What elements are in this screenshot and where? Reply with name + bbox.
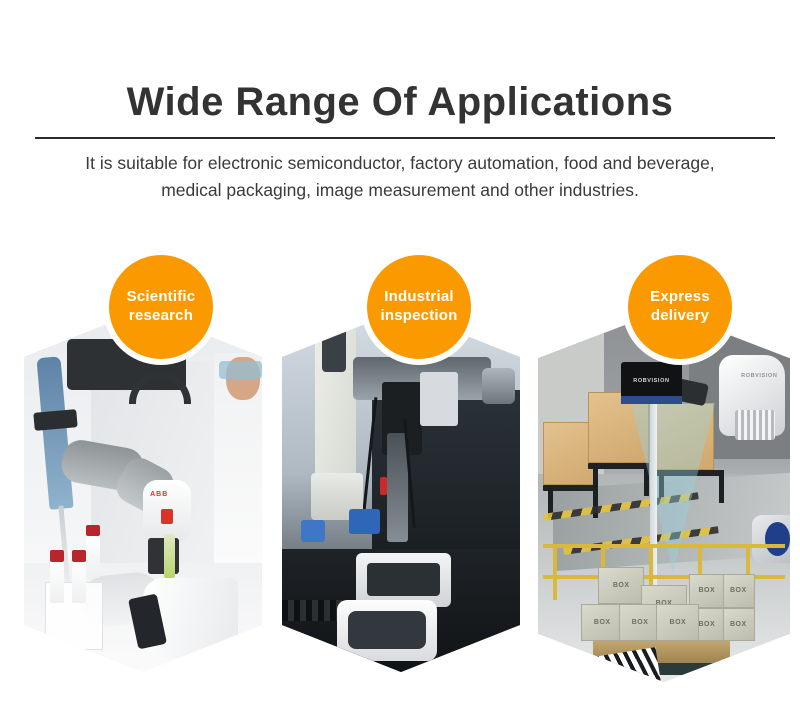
scientific-research-photo: ABB [24,310,262,672]
badge-label: Scientific research [127,288,196,326]
component-tray [337,600,437,662]
badge-label-line-2: delivery [651,307,709,324]
page-subtitle: It is suitable for electronic semiconduc… [55,150,745,204]
page-title: Wide Range Of Applications [0,0,800,122]
carton: BOX [722,574,755,607]
application-card-industrial-inspection[interactable]: Industrial inspection [282,255,520,680]
sample-vial [86,534,100,577]
rack-leg [593,463,598,496]
control-module [420,372,458,426]
component-tray [356,553,451,607]
carton: BOX [722,608,755,641]
safety-goggles-icon [219,361,262,379]
blue-fixture [301,520,325,542]
application-page: Wide Range Of Applications It is suitabl… [0,0,800,720]
fence-post [553,544,557,600]
pneumatic-cylinder [482,368,515,404]
sample-vial [72,560,86,603]
robot-cable-track [735,410,775,440]
carton: BOX [656,604,699,641]
title-divider [35,137,775,139]
badge-label: Industrial inspection [380,288,457,326]
actuator-cap [322,324,346,371]
green-sample-tube [164,534,175,577]
badge-label-line-1: Scientific [127,288,196,305]
application-card-scientific-research[interactable]: ABB Scientific research [24,255,262,680]
badge-label: Express delivery [650,288,710,326]
scanner-brand-label: ROBVISION [633,378,669,384]
robot-brand-label: ROBVISION [741,373,777,379]
badge-industrial-inspection[interactable]: Industrial inspection [367,255,471,359]
express-delivery-photo: ROBVISION ROBVISION [538,310,790,682]
badge-express-delivery[interactable]: Express delivery [628,255,732,359]
badge-label-line-2: inspection [380,307,457,324]
carton: BOX [619,604,662,641]
carton: BOX [689,574,724,607]
carton: BOX [581,604,624,641]
badge-label-line-1: Industrial [384,288,454,305]
badge-label-line-2: research [129,307,193,324]
badge-label-line-1: Express [650,288,710,305]
application-panels: ABB Scientific research [0,255,800,680]
scanner-lens-bar [621,396,681,404]
industrial-inspection-photo [282,310,520,672]
robot-arm-brand-mark: ABB [150,491,168,498]
sample-vial [50,560,64,603]
rack-leg [719,470,724,503]
badge-scientific-research[interactable]: Scientific research [109,255,213,359]
pipette-clamp [33,410,77,432]
application-card-express-delivery[interactable]: ROBVISION ROBVISION [538,255,790,680]
carton: BOX [598,567,643,604]
robot-arm-indicator [161,509,173,523]
status-indicator [380,477,387,495]
page-header: Wide Range Of Applications [0,0,800,122]
blue-fixture [349,509,380,534]
vision-scanner-device: ROBVISION [621,362,681,399]
